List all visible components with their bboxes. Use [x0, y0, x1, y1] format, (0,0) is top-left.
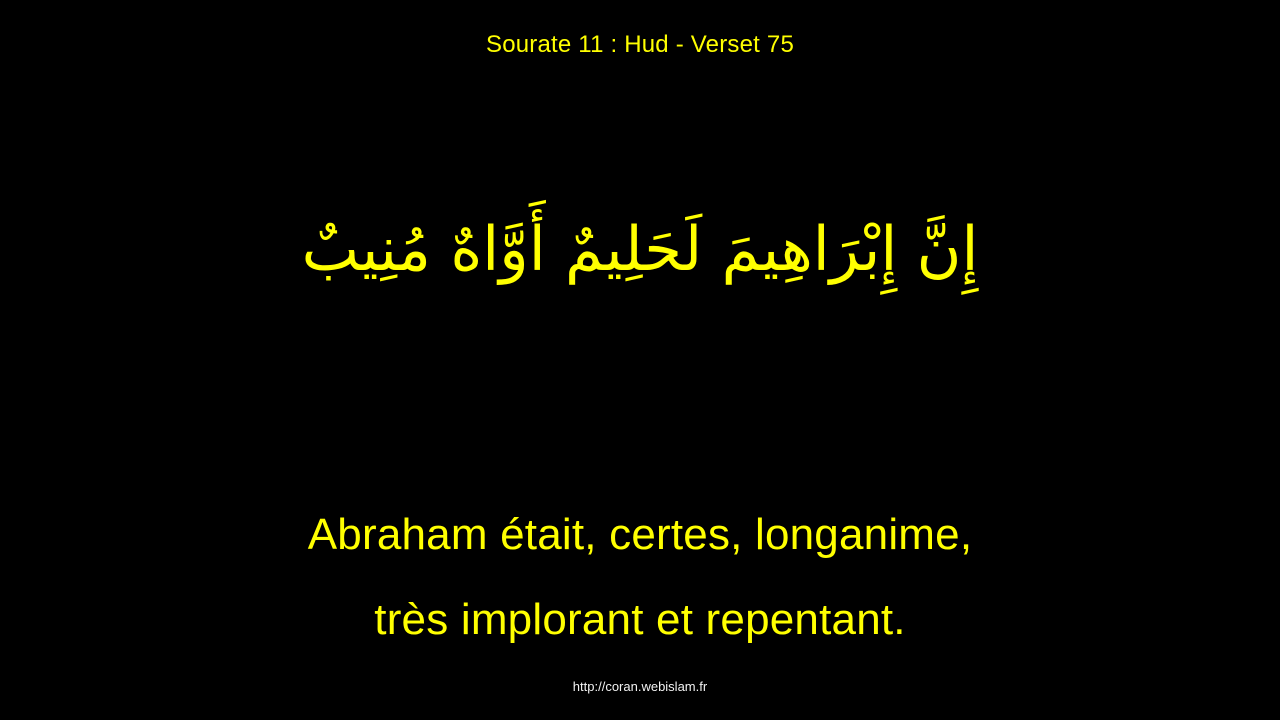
translation-container: Abraham était, certes, longanime, très i… — [0, 492, 1280, 662]
arabic-verse-container: إِنَّ إِبْرَاهِيمَ لَحَلِيمٌ أَوَّاهٌ مُ… — [0, 175, 1280, 325]
quran-verse-slide: Sourate 11 : Hud - Verset 75 إِنَّ إِبْر… — [0, 0, 1280, 720]
source-url[interactable]: http://coran.webislam.fr — [0, 679, 1280, 695]
page-title: Sourate 11 : Hud - Verset 75 — [0, 31, 1280, 59]
translation-line-1: Abraham était, certes, longanime, — [0, 492, 1280, 577]
translation-line-2: très implorant et repentant. — [0, 577, 1280, 662]
arabic-verse-text: إِنَّ إِبْرَاهِيمَ لَحَلِيمٌ أَوَّاهٌ مُ… — [292, 204, 989, 296]
